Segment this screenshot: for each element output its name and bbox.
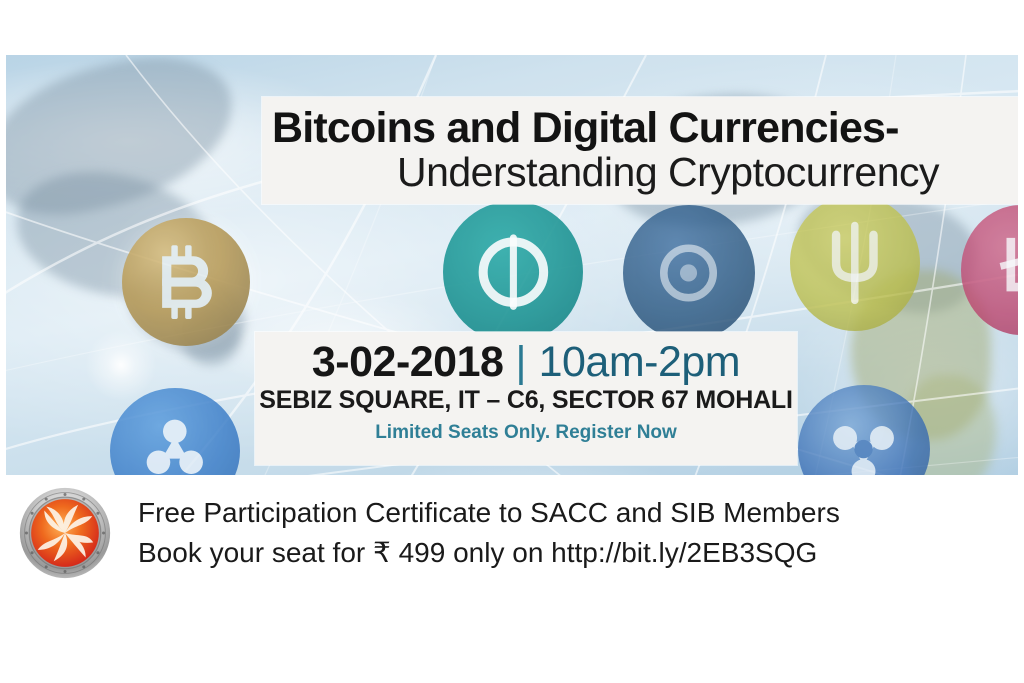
- event-time: 10am-2pm: [539, 338, 741, 387]
- navy-coin-glyph: [641, 224, 736, 322]
- footer-text-block: Free Participation Certificate to SACC a…: [138, 493, 840, 573]
- footer-band: Free Participation Certificate to SACC a…: [6, 475, 1018, 590]
- page-title-line2: Understanding Cryptocurrency: [262, 151, 1018, 194]
- limited-seats-note: Limited Seats Only. Register Now: [375, 422, 677, 444]
- footer-certificate-line: Free Participation Certificate to SACC a…: [138, 493, 840, 533]
- emblem-icon: [18, 486, 112, 580]
- page-title-line1: Bitcoins and Digital Currencies-: [262, 107, 1018, 151]
- event-venue: SEBIZ SQUARE, IT – C6, SECTOR 67 MOHALI: [259, 386, 793, 415]
- teal-coin: [443, 201, 583, 343]
- event-date: 3-02-2018: [312, 338, 504, 387]
- date-time-row: 3-02-2018 | 10am-2pm: [312, 338, 740, 387]
- olive-coin-glyph: [808, 214, 902, 312]
- navy-coin: [623, 205, 755, 341]
- olive-coin: [790, 195, 920, 331]
- pink-coin-glyph: [978, 223, 1018, 317]
- footer-booking-line[interactable]: Book your seat for ₹ 499 only on http://…: [138, 533, 840, 573]
- bitcoin-coin: [122, 218, 250, 346]
- title-panel: Bitcoins and Digital Currencies- Underst…: [262, 97, 1018, 204]
- organization-logo: [18, 486, 112, 580]
- event-details-panel: 3-02-2018 | 10am-2pm SEBIZ SQUARE, IT – …: [255, 332, 797, 465]
- teal-coin-glyph: [463, 221, 564, 323]
- bitcoin-symbol-icon: [140, 236, 232, 328]
- flyer-page: Bitcoins and Digital Currencies- Underst…: [0, 0, 1024, 683]
- date-time-separator: |: [515, 338, 526, 387]
- lens-flare: [86, 330, 156, 400]
